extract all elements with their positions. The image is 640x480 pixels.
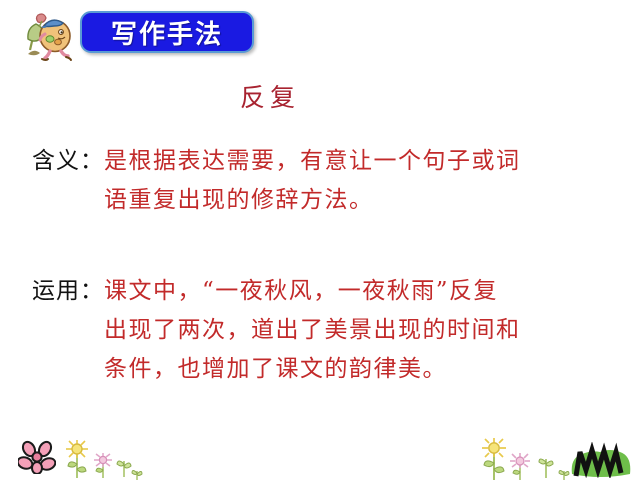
section-meaning-label: 含义： bbox=[32, 142, 104, 181]
flower-small-pink-right-icon bbox=[508, 452, 532, 480]
section-usage-line-2: 出现了两次，道出了美景出现的时间和 bbox=[104, 311, 521, 350]
section-usage-line-1: 课文中，“一夜秋风，一夜秋雨”反复 bbox=[104, 272, 521, 311]
title-banner-label: 写作手法 bbox=[82, 13, 252, 51]
flower-small-pink-left-icon bbox=[92, 452, 114, 478]
page-title: 反复 bbox=[0, 78, 540, 114]
section-meaning-body: 是根据表达需要，有意让一个句子或词 语重复出现的修辞方法。 bbox=[104, 142, 521, 220]
sprout-left-2-icon bbox=[131, 465, 144, 479]
section-usage-label: 运用： bbox=[32, 272, 104, 311]
daisy-yellow-right-icon bbox=[478, 436, 510, 480]
slide-canvas: 写作手法 反复 含义： 是根据表达需要，有意让一个句子或词 语重复出现的修辞方法… bbox=[0, 0, 640, 480]
section-meaning-line-2: 语重复出现的修辞方法。 bbox=[104, 181, 521, 220]
daisy-yellow-left-icon bbox=[62, 438, 92, 478]
section-usage: 运用： 课文中，“一夜秋风，一夜秋雨”反复 出现了两次，道出了美景出现的时间和 … bbox=[32, 272, 521, 389]
sprout-right-1-icon bbox=[538, 452, 555, 478]
title-banner: 写作手法 bbox=[80, 11, 254, 53]
section-meaning: 含义： 是根据表达需要，有意让一个句子或词 语重复出现的修辞方法。 bbox=[32, 142, 521, 220]
section-meaning-line-1: 是根据表达需要，有意让一个句子或词 bbox=[104, 142, 521, 181]
section-usage-body: 课文中，“一夜秋风，一夜秋雨”反复 出现了两次，道出了美景出现的时间和 条件，也… bbox=[104, 272, 521, 389]
flower-large-pink-icon bbox=[18, 440, 56, 474]
sprout-left-1-icon bbox=[116, 455, 132, 477]
section-usage-line-3: 条件，也增加了课文的韵律美。 bbox=[104, 350, 521, 389]
grass-tuft-icon bbox=[568, 442, 634, 478]
slide-header: 写作手法 bbox=[0, 0, 640, 66]
cartoon-character-icon bbox=[14, 8, 76, 64]
